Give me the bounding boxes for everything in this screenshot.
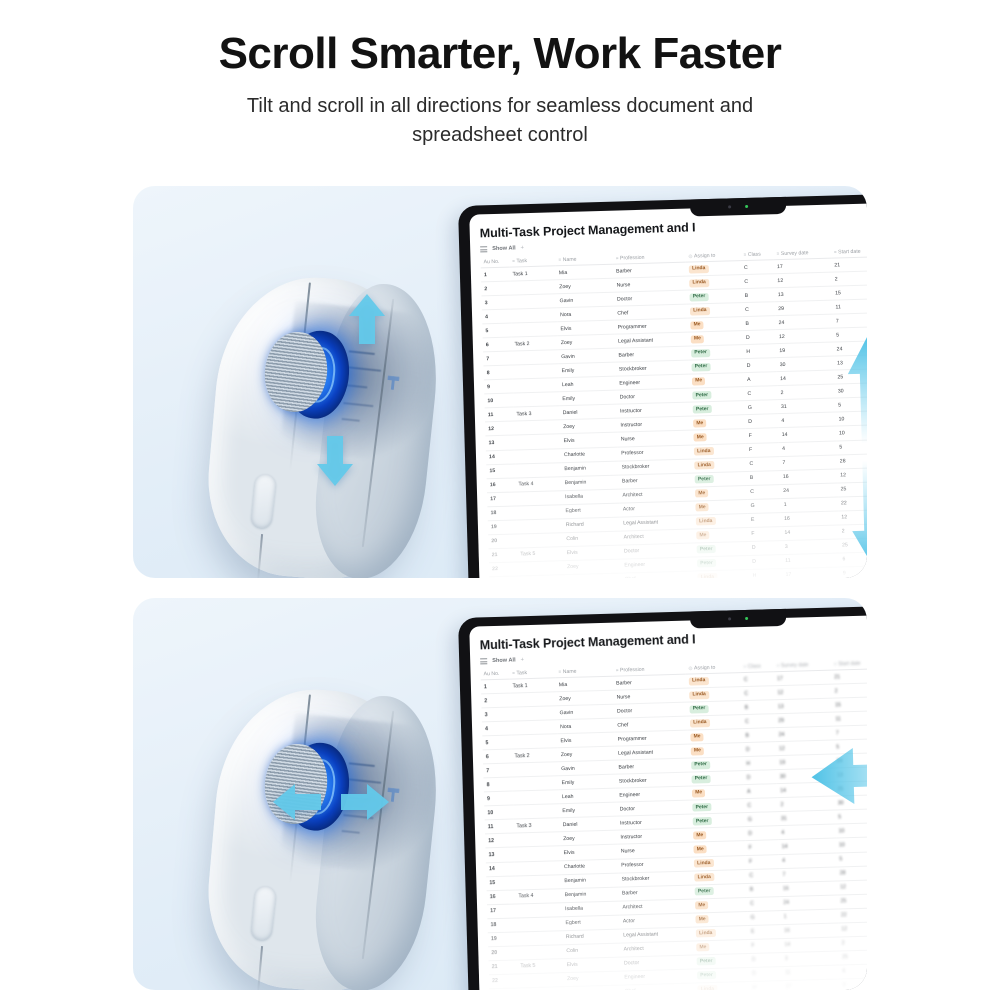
cell-task[interactable]: Task 2: [511, 748, 558, 763]
cell-assign[interactable]: Linda: [691, 443, 746, 459]
cell-class[interactable]: F: [745, 428, 778, 443]
cell-task[interactable]: [510, 692, 557, 707]
cell-assign[interactable]: Peter: [694, 541, 749, 557]
cell-no[interactable]: 12: [485, 421, 514, 436]
assignee-tag: Me: [692, 789, 706, 797]
cell-task[interactable]: [518, 574, 565, 578]
assignee-tag: Linda: [694, 461, 714, 469]
cell-task[interactable]: [513, 378, 560, 393]
cell-profession[interactable]: Chef: [622, 983, 695, 990]
cell-start[interactable]: 12: [837, 879, 867, 895]
cell-assign[interactable]: Me: [692, 897, 747, 913]
cell-start[interactable]: 2: [831, 683, 867, 699]
mouse-illustration-horizontal: [191, 670, 491, 990]
cell-no[interactable]: 9: [484, 379, 513, 394]
cell-start[interactable]: 2: [831, 271, 867, 287]
cell-assign[interactable]: Peter: [688, 771, 743, 787]
cell-assign[interactable]: Peter: [688, 757, 743, 773]
cell-class[interactable]: F: [748, 938, 781, 953]
cell-task[interactable]: Task 1: [509, 266, 556, 281]
cell-no[interactable]: 16: [487, 890, 516, 905]
cell-assign[interactable]: Linda: [693, 513, 748, 529]
cell-no[interactable]: 15: [486, 464, 515, 479]
cell-task[interactable]: [516, 504, 563, 519]
cell-task[interactable]: Task 2: [511, 336, 558, 351]
cell-start[interactable]: 15: [832, 697, 867, 713]
cell-start[interactable]: 5: [835, 809, 867, 825]
cell-assign[interactable]: Me: [688, 331, 743, 347]
column-header-start-date[interactable]: ≡Start date: [831, 245, 867, 258]
cell-class[interactable]: D: [745, 414, 778, 429]
column-header-label: Survey date: [781, 662, 809, 669]
cell-assign[interactable]: Peter: [690, 401, 745, 417]
cell-class[interactable]: E: [748, 512, 781, 527]
assignee-tag: Me: [696, 943, 710, 951]
assignee-tag: Linda: [696, 517, 716, 525]
column-header-start-date[interactable]: ≡Start date: [831, 657, 867, 670]
spreadsheet-title: Multi-Task Project Management and I: [480, 623, 867, 652]
cell-no[interactable]: 8: [483, 777, 512, 792]
column-header-label: Task: [516, 258, 527, 264]
cell-task[interactable]: [512, 762, 559, 777]
cell-assign[interactable]: Linda: [686, 275, 741, 291]
cell-no[interactable]: 14: [486, 450, 515, 465]
cell-no[interactable]: 17: [487, 904, 516, 919]
cell-survey[interactable]: 17: [782, 979, 840, 990]
cell-no[interactable]: 22: [489, 562, 518, 577]
cell-task[interactable]: [511, 308, 558, 323]
column-header-label: Start date: [838, 248, 861, 255]
cell-assign[interactable]: Me: [690, 841, 745, 857]
cell-start[interactable]: 22: [838, 907, 867, 923]
grid-view-icon[interactable]: [480, 246, 487, 252]
cell-class[interactable]: D: [744, 358, 777, 373]
cell-class[interactable]: C: [744, 798, 777, 813]
cell-no[interactable]: 2: [481, 281, 510, 296]
grid-view-icon[interactable]: [480, 658, 487, 664]
cell-no[interactable]: 3: [482, 707, 511, 722]
cell-no[interactable]: 10: [484, 805, 513, 820]
cell-start[interactable]: 15: [832, 285, 867, 301]
cell-class[interactable]: F: [748, 526, 781, 541]
column-header-class[interactable]: ≡Class: [740, 248, 773, 261]
cell-task[interactable]: [515, 462, 562, 477]
scroll-indicator-left-icon: [809, 744, 867, 808]
cell-no[interactable]: 20: [488, 534, 517, 549]
cell-assign[interactable]: Me: [687, 317, 742, 333]
tablet-device-top: Multi-Task Project Management and I Show…: [458, 190, 867, 578]
cell-class[interactable]: A: [744, 784, 777, 799]
cell-class[interactable]: C: [744, 386, 777, 401]
text-field-icon: ≡: [558, 669, 561, 674]
cell-no[interactable]: 14: [486, 862, 515, 877]
column-header-label: Au No.: [483, 670, 499, 676]
cell-assign[interactable]: Linda: [693, 925, 748, 941]
cell-task[interactable]: [518, 986, 565, 990]
cell-assign[interactable]: Linda: [691, 457, 746, 473]
assignee-tag: Peter: [692, 363, 711, 371]
cell-no[interactable]: 6: [483, 749, 512, 764]
camera-lens-icon: [728, 617, 731, 620]
cell-no[interactable]: 11: [485, 407, 514, 422]
cell-class[interactable]: H: [743, 756, 776, 771]
cell-task[interactable]: [514, 434, 561, 449]
cell-assign[interactable]: Linda: [687, 303, 742, 319]
cell-no[interactable]: 7: [483, 351, 512, 366]
cell-start[interactable]: 2: [839, 935, 867, 951]
assignee-tag: Linda: [694, 447, 714, 455]
column-header-label: Name: [563, 256, 577, 262]
assignee-tag: Linda: [697, 985, 717, 990]
cell-start[interactable]: 5: [836, 851, 867, 867]
cell-class[interactable]: G: [745, 812, 778, 827]
cell-assign[interactable]: Me: [692, 499, 747, 515]
cell-task[interactable]: [514, 832, 561, 847]
cell-task[interactable]: Task 5: [517, 546, 564, 561]
cell-class[interactable]: F: [745, 840, 778, 855]
cell-start[interactable]: 21: [831, 257, 867, 273]
column-header-label: Assign to: [694, 664, 716, 671]
product-marketing-page: Scroll Smarter, Work Faster Tilt and scr…: [0, 0, 1000, 1000]
tablet-screen-bottom: Multi-Task Project Management and I Show…: [469, 611, 867, 990]
cell-class[interactable]: D: [749, 952, 782, 967]
cell-no[interactable]: 12: [485, 833, 514, 848]
cell-assign[interactable]: Peter: [689, 387, 744, 403]
cell-no[interactable]: 15: [486, 876, 515, 891]
cell-no[interactable]: 22: [489, 974, 518, 989]
add-view-button[interactable]: +: [521, 657, 525, 663]
cell-assign[interactable]: Peter: [689, 799, 744, 815]
cell-assign[interactable]: Me: [693, 939, 748, 955]
cell-class[interactable]: C: [747, 484, 780, 499]
tablet-device-bottom: Multi-Task Project Management and I Show…: [458, 602, 867, 990]
cell-class[interactable]: F: [746, 854, 779, 869]
cell-assign[interactable]: Me: [690, 415, 745, 431]
text-field-icon: ≡: [744, 664, 747, 669]
cell-task[interactable]: [512, 350, 559, 365]
cell-task[interactable]: [514, 420, 561, 435]
cell-assign[interactable]: Linda: [687, 715, 742, 731]
assignee-tag: Me: [693, 433, 707, 441]
assignee-tag: Linda: [694, 859, 714, 867]
cell-task[interactable]: [516, 518, 563, 533]
assignee-tag: Me: [693, 831, 707, 839]
add-view-button[interactable]: +: [521, 245, 525, 251]
cell-class[interactable]: H: [743, 344, 776, 359]
person-field-icon: ◎: [688, 665, 692, 670]
cell-assign[interactable]: Me: [690, 827, 745, 843]
cell-no[interactable]: 1: [481, 267, 510, 282]
cell-task[interactable]: [512, 364, 559, 379]
text-field-icon: ≡: [834, 661, 837, 666]
wheel-arrow-down-icon: [315, 434, 355, 488]
cell-task[interactable]: [511, 322, 558, 337]
cell-task[interactable]: [513, 804, 560, 819]
cell-start[interactable]: 7: [833, 725, 867, 741]
cell-assign[interactable]: Peter: [686, 701, 741, 717]
assignee-tag: Peter: [690, 705, 709, 713]
cell-no[interactable]: 13: [485, 847, 514, 862]
cell-task[interactable]: [514, 846, 561, 861]
text-field-icon: ≡: [834, 249, 837, 254]
cell-assign[interactable]: Linda: [694, 981, 749, 990]
cell-no[interactable]: 1: [481, 679, 510, 694]
cell-task[interactable]: [510, 294, 557, 309]
mouse-illustration-vertical: [191, 258, 491, 578]
cell-assign[interactable]: Peter: [694, 555, 749, 571]
cell-task[interactable]: [511, 720, 558, 735]
cell-class[interactable]: D: [744, 770, 777, 785]
cell-assign[interactable]: Peter: [688, 359, 743, 375]
cell-no[interactable]: 20: [488, 946, 517, 961]
cell-assign[interactable]: Peter: [690, 813, 745, 829]
cell-task[interactable]: Task 3: [513, 406, 560, 421]
cell-task[interactable]: [516, 902, 563, 917]
cell-no[interactable]: 18: [487, 918, 516, 933]
cell-task[interactable]: [516, 916, 563, 931]
cell-start[interactable]: 25: [837, 893, 867, 909]
cell-assign[interactable]: Peter: [694, 953, 749, 969]
cell-no[interactable]: 16: [487, 478, 516, 493]
cell-task[interactable]: [513, 392, 560, 407]
tablet-screen-top: Multi-Task Project Management and I Show…: [469, 199, 867, 578]
cell-class[interactable]: D: [745, 826, 778, 841]
cell-task[interactable]: [515, 874, 562, 889]
cell-class[interactable]: C: [747, 896, 780, 911]
cell-assign[interactable]: Linda: [686, 687, 741, 703]
cell-no[interactable]: 23: [489, 988, 518, 990]
cell-no[interactable]: 7: [483, 763, 512, 778]
cell-start[interactable]: 6: [839, 963, 867, 979]
cell-task[interactable]: [517, 532, 564, 547]
cell-class[interactable]: C: [741, 686, 774, 701]
cell-no[interactable]: 18: [487, 506, 516, 521]
assignee-tag: Me: [695, 915, 709, 923]
cell-no[interactable]: 10: [484, 393, 513, 408]
cell-profession[interactable]: Chef: [622, 571, 695, 578]
assignee-tag: Linda: [690, 719, 710, 727]
column-header-label: Class: [748, 251, 761, 257]
cell-task[interactable]: [511, 734, 558, 749]
cell-class[interactable]: B: [742, 288, 775, 303]
column-header-class[interactable]: ≡Class: [740, 660, 773, 673]
cell-name[interactable]: Emma: [564, 573, 622, 578]
column-header-au-no[interactable]: Au No.: [480, 668, 509, 680]
cell-assign[interactable]: Linda: [694, 569, 749, 578]
cell-start[interactable]: 10: [836, 837, 867, 853]
cell-no[interactable]: 13: [485, 435, 514, 450]
cell-assign[interactable]: Peter: [694, 967, 749, 983]
cell-no[interactable]: 5: [482, 735, 511, 750]
cell-class[interactable]: E: [748, 924, 781, 939]
assignee-tag: Peter: [697, 957, 716, 965]
cell-assign[interactable]: Me: [692, 911, 747, 927]
column-header-au-no[interactable]: Au No.: [480, 256, 509, 268]
cell-assign[interactable]: Me: [689, 785, 744, 801]
cell-no[interactable]: 19: [488, 520, 517, 535]
text-field-icon: ≡: [512, 670, 515, 675]
cell-task[interactable]: [518, 972, 565, 987]
cell-start[interactable]: 11: [832, 711, 867, 727]
column-header-label: Profession: [620, 254, 645, 261]
cell-assign[interactable]: Peter: [692, 471, 747, 487]
assignee-tag: Peter: [693, 817, 712, 825]
cell-name[interactable]: Emma: [564, 985, 622, 990]
assignee-tag: Me: [695, 901, 709, 909]
assignee-tag: Peter: [695, 887, 714, 895]
assignee-tag: Me: [695, 503, 709, 511]
cell-class[interactable]: D: [743, 742, 776, 757]
cell-class[interactable]: C: [742, 302, 775, 317]
cell-assign[interactable]: Me: [692, 485, 747, 501]
cell-task[interactable]: Task 1: [509, 678, 556, 693]
assignee-tag: Peter: [697, 559, 716, 567]
cell-no[interactable]: 3: [482, 295, 511, 310]
cell-start[interactable]: 12: [838, 921, 867, 937]
cell-class[interactable]: D: [749, 540, 782, 555]
cell-task[interactable]: [516, 490, 563, 505]
cell-task[interactable]: Task 4: [515, 476, 562, 491]
cell-assign[interactable]: Me: [688, 743, 743, 759]
cell-class[interactable]: G: [747, 498, 780, 513]
cell-class[interactable]: B: [747, 882, 780, 897]
cell-no[interactable]: 19: [488, 932, 517, 947]
assignee-tag: Me: [691, 335, 705, 343]
assignee-tag: Me: [693, 845, 707, 853]
cell-class[interactable]: C: [746, 456, 779, 471]
cell-task[interactable]: Task 5: [517, 958, 564, 973]
column-header-label: Task: [516, 670, 527, 676]
cell-no[interactable]: 17: [487, 492, 516, 507]
cell-start[interactable]: 11: [832, 299, 867, 315]
cell-class[interactable]: H: [749, 980, 782, 990]
cell-class[interactable]: C: [742, 714, 775, 729]
show-all-button[interactable]: Show All: [492, 657, 516, 664]
cell-assign[interactable]: Linda: [691, 869, 746, 885]
assignee-tag: Peter: [697, 545, 716, 553]
cell-assign[interactable]: Linda: [686, 673, 741, 689]
cell-assign[interactable]: Me: [690, 429, 745, 445]
cell-no[interactable]: 4: [482, 309, 511, 324]
cell-assign[interactable]: Me: [689, 373, 744, 389]
cell-class[interactable]: D: [749, 554, 782, 569]
cell-task[interactable]: [517, 944, 564, 959]
column-header-label: Assign to: [694, 252, 716, 259]
camera-indicator-led: [745, 205, 748, 208]
cell-task[interactable]: [514, 448, 561, 463]
cell-class[interactable]: B: [742, 316, 775, 331]
cell-task[interactable]: [516, 930, 563, 945]
cell-start[interactable]: 7: [833, 313, 867, 329]
cell-start[interactable]: 28: [837, 865, 867, 881]
assignee-tag: Linda: [690, 307, 710, 315]
assignee-tag: Me: [690, 321, 704, 329]
cell-no[interactable]: 11: [485, 819, 514, 834]
cell-class[interactable]: C: [741, 274, 774, 289]
cell-task[interactable]: [510, 706, 557, 721]
cell-no[interactable]: 4: [482, 721, 511, 736]
feature-panel-vertical-scroll: Multi-Task Project Management and I Show…: [133, 186, 867, 578]
camera-lens-icon: [728, 205, 731, 208]
camera-indicator-led: [745, 617, 748, 620]
cell-class[interactable]: G: [747, 910, 780, 925]
cell-class[interactable]: B: [742, 700, 775, 715]
cell-no[interactable]: 23: [489, 576, 518, 578]
cell-no[interactable]: 5: [482, 323, 511, 338]
cell-class[interactable]: H: [749, 568, 782, 578]
cell-no[interactable]: 21: [489, 548, 518, 563]
cell-assign[interactable]: Peter: [688, 345, 743, 361]
cell-class[interactable]: B: [742, 728, 775, 743]
cell-assign[interactable]: Linda: [691, 855, 746, 871]
cell-class[interactable]: D: [749, 966, 782, 981]
cell-task[interactable]: [512, 776, 559, 791]
assignee-tag: Peter: [691, 761, 710, 769]
cell-class[interactable]: F: [746, 442, 779, 457]
wheel-arrow-up-icon: [347, 292, 387, 346]
cell-start[interactable]: 10: [835, 823, 867, 839]
cell-no[interactable]: 8: [483, 365, 512, 380]
cell-task[interactable]: [510, 280, 557, 295]
cell-class[interactable]: C: [741, 260, 774, 275]
cell-assign[interactable]: Me: [687, 729, 742, 745]
cell-task[interactable]: Task 3: [513, 818, 560, 833]
cell-start[interactable]: 25: [839, 949, 867, 965]
cell-assign[interactable]: Me: [693, 527, 748, 543]
cell-survey[interactable]: 17: [782, 567, 840, 578]
column-header-label: Name: [563, 668, 577, 674]
cell-task[interactable]: [514, 860, 561, 875]
hero-section: Scroll Smarter, Work Faster Tilt and scr…: [0, 30, 1000, 150]
cell-class[interactable]: C: [741, 672, 774, 687]
text-field-icon: ≡: [616, 255, 619, 260]
page-title: Scroll Smarter, Work Faster: [0, 30, 1000, 78]
assignee-tag: Me: [695, 489, 709, 497]
cell-no[interactable]: 21: [489, 960, 518, 975]
cell-assign[interactable]: Peter: [686, 289, 741, 305]
text-field-icon: ≡: [777, 251, 780, 256]
cell-class[interactable]: G: [745, 400, 778, 415]
text-field-icon: ≡: [512, 258, 515, 263]
cell-assign[interactable]: Linda: [686, 261, 741, 277]
cell-start[interactable]: 9: [840, 977, 867, 990]
feature-panel-horizontal-tilt: Multi-Task Project Management and I Show…: [133, 598, 867, 990]
assignee-tag: Me: [692, 377, 706, 385]
cell-class[interactable]: A: [744, 372, 777, 387]
cell-assign[interactable]: Peter: [692, 883, 747, 899]
cell-no[interactable]: 9: [484, 791, 513, 806]
person-field-icon: ◎: [688, 253, 692, 258]
cell-class[interactable]: D: [743, 330, 776, 345]
column-header-label: Au No.: [483, 258, 499, 264]
scroll-wheel: [260, 329, 331, 416]
assignee-tag: Peter: [692, 803, 711, 811]
cell-task[interactable]: [518, 560, 565, 575]
cell-no[interactable]: 6: [483, 337, 512, 352]
cell-no[interactable]: 2: [481, 693, 510, 708]
assignee-tag: Me: [696, 531, 710, 539]
cell-start[interactable]: 21: [831, 669, 867, 685]
assignee-tag: Peter: [692, 775, 711, 783]
show-all-button[interactable]: Show All: [492, 245, 516, 252]
text-field-icon: ≡: [744, 252, 747, 257]
cell-task[interactable]: [513, 790, 560, 805]
cell-class[interactable]: C: [746, 868, 779, 883]
table-body: 1Task 1MiaBarberLindaC172119On-Going102Z…: [481, 664, 867, 990]
cell-class[interactable]: B: [747, 470, 780, 485]
column-header-label: Class: [748, 663, 761, 669]
cell-task[interactable]: Task 4: [515, 888, 562, 903]
